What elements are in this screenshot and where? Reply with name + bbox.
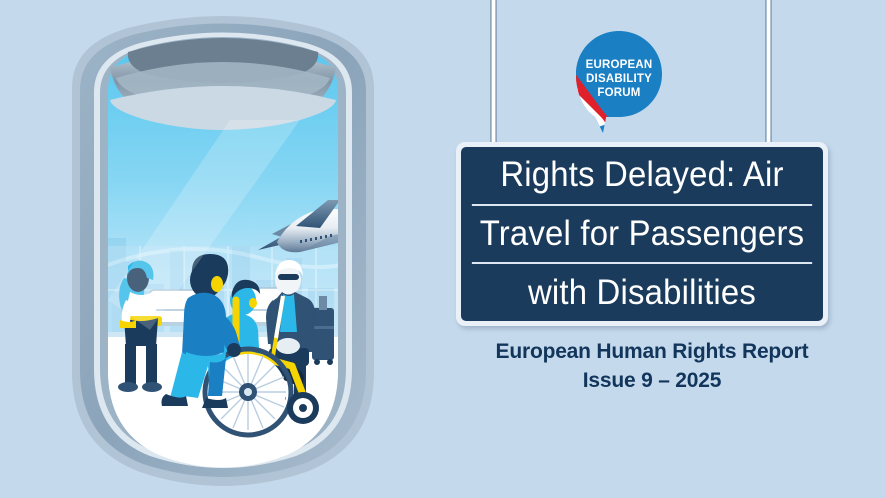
report-cover: EUROPEAN DISABILITY FORUM Rights Delayed… <box>0 0 886 498</box>
sunglasses <box>278 274 299 280</box>
sign-title-line-3: with Disabilities <box>472 262 812 321</box>
hanging-airport-sign: Rights Delayed: Air Travel for Passenger… <box>456 142 828 326</box>
european-disability-forum-logo[interactable]: EUROPEAN DISABILITY FORUM <box>573 28 665 136</box>
logo-line-1: EUROPEAN <box>586 59 653 71</box>
subtitle-line-1: European Human Rights Report <box>446 337 858 366</box>
sign-title-line-2: Travel for Passengers <box>472 204 812 263</box>
face-mask <box>249 298 257 308</box>
sign-inner-board: Rights Delayed: Air Travel for Passenger… <box>461 147 823 321</box>
wheelchair-caster <box>287 392 319 424</box>
face-mask <box>211 276 223 292</box>
logo-line-3: FORUM <box>597 87 640 99</box>
title-panel: EUROPEAN DISABILITY FORUM Rights Delayed… <box>446 0 886 498</box>
airplane-window-illustration <box>0 0 446 498</box>
sign-title-line-1: Rights Delayed: Air <box>472 147 812 204</box>
window-shade <box>110 38 336 130</box>
logo-line-2: DISABILITY <box>586 73 652 85</box>
subtitle-line-2: Issue 9 – 2025 <box>446 366 858 395</box>
report-subtitle: European Human Rights Report Issue 9 – 2… <box>446 337 858 395</box>
